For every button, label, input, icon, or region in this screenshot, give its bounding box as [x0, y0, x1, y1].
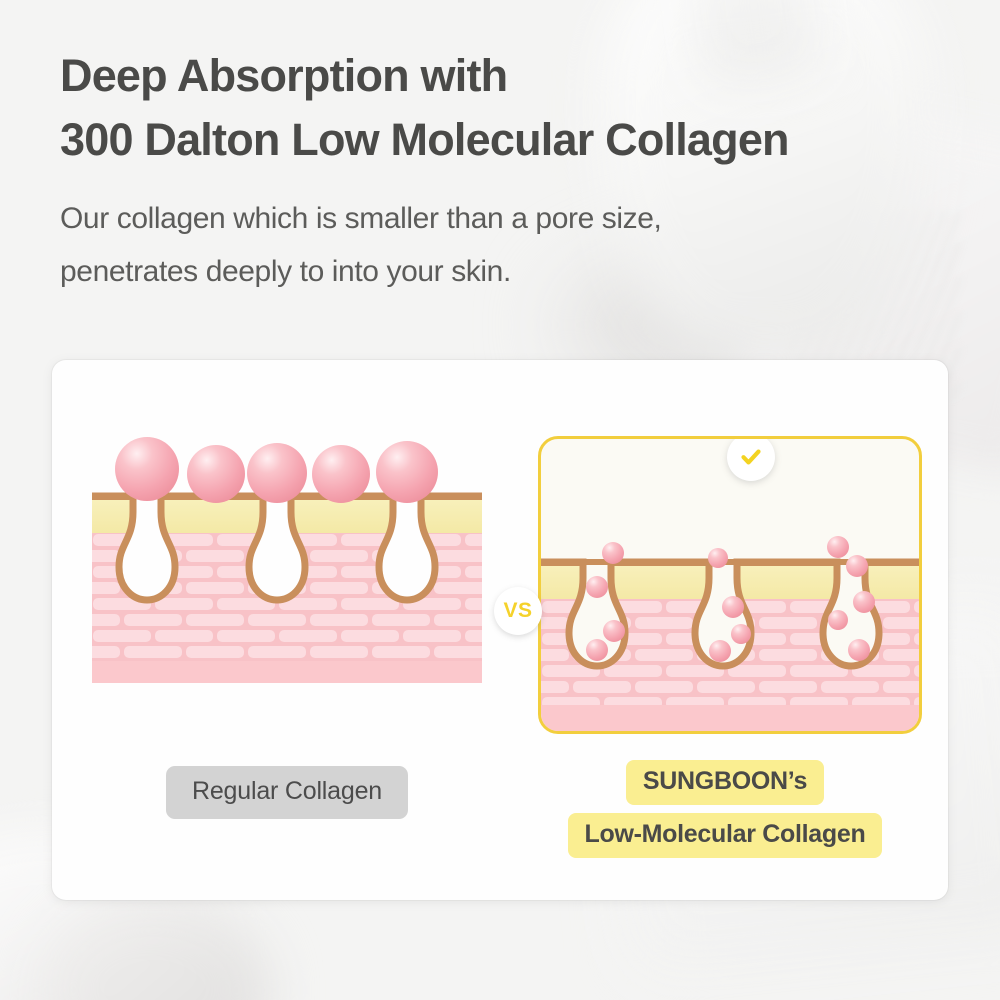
label-row-regular: Regular Collagen — [92, 766, 482, 819]
vs-badge: VS — [494, 587, 542, 635]
skin-cross-section-sungboon — [541, 439, 919, 731]
label-sungboon-row-1: SUNGBOON’s — [530, 760, 920, 805]
comparison-card: Regular Collagen VS — [52, 360, 948, 900]
subcopy-line-1: Our collagen which is smaller than a por… — [60, 192, 960, 245]
label-sungboon-row-2: Low-Molecular Collagen — [530, 813, 920, 858]
label-row-sungboon: SUNGBOON’s Low-Molecular Collagen — [530, 760, 920, 858]
copy-block: Deep Absorption with 300 Dalton Low Mole… — [60, 44, 960, 299]
panel-regular-collagen: Regular Collagen — [92, 420, 482, 860]
panel-sungboon-collagen: SUNGBOON’s Low-Molecular Collagen — [530, 420, 920, 860]
skin-cross-section-regular — [92, 436, 482, 736]
label-sungboon-brand: SUNGBOON’s — [626, 760, 824, 805]
check-icon — [738, 444, 764, 470]
collagen-molecules-large — [115, 437, 438, 503]
page-title: Deep Absorption with 300 Dalton Low Mole… — [60, 44, 960, 172]
highlighted-diagram-frame — [538, 436, 922, 734]
label-regular-collagen: Regular Collagen — [166, 766, 408, 819]
diagram-regular-collagen — [92, 436, 482, 736]
headline-line-1: Deep Absorption with — [60, 44, 960, 108]
headline-line-2: 300 Dalton Low Molecular Collagen — [60, 108, 960, 172]
label-sungboon-product: Low-Molecular Collagen — [568, 813, 883, 858]
subcopy-line-2: penetrates deeply to into your skin. — [60, 245, 960, 298]
page-subtitle: Our collagen which is smaller than a por… — [60, 192, 960, 299]
